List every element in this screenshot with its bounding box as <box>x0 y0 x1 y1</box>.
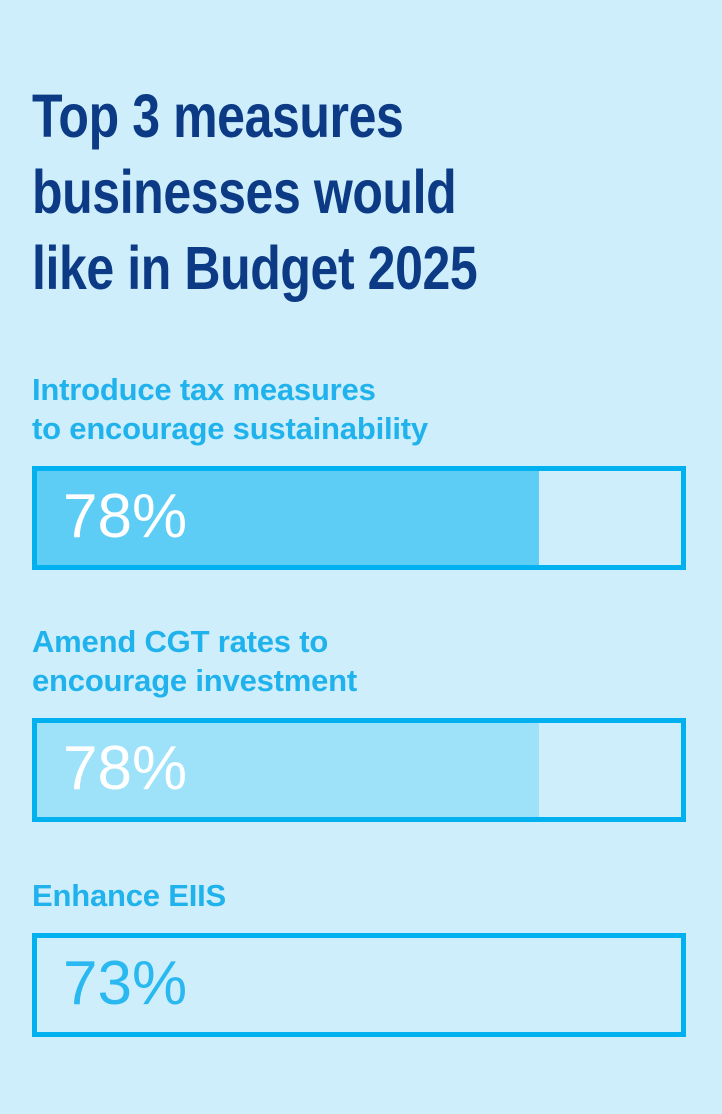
measure-bar-2: 78% <box>32 718 686 822</box>
measure-value-2: 78% <box>63 738 187 800</box>
measure-label-3: Enhance EIIS <box>32 876 686 915</box>
measure-item-3: Enhance EIIS 73% <box>32 876 686 1037</box>
measure-item-2: Amend CGT rates to encourage investment … <box>32 622 686 822</box>
measure-bar-3: 73% <box>32 933 686 1037</box>
measure-value-1: 78% <box>63 486 187 548</box>
measure-label-1: Introduce tax measures to encourage sust… <box>32 370 686 448</box>
measure-label-2: Amend CGT rates to encourage investment <box>32 622 686 700</box>
page-title: Top 3 measures businesses would like in … <box>32 78 592 306</box>
infographic-poster: Top 3 measures businesses would like in … <box>0 0 722 1114</box>
page-title-line-2: businesses would <box>32 154 491 230</box>
page-title-line-3: like in Budget 2025 <box>32 230 491 306</box>
measure-bar-1: 78% <box>32 466 686 570</box>
measure-value-3: 73% <box>63 953 187 1015</box>
page-title-line-1: Top 3 measures <box>32 78 491 154</box>
measure-item-1: Introduce tax measures to encourage sust… <box>32 370 686 570</box>
